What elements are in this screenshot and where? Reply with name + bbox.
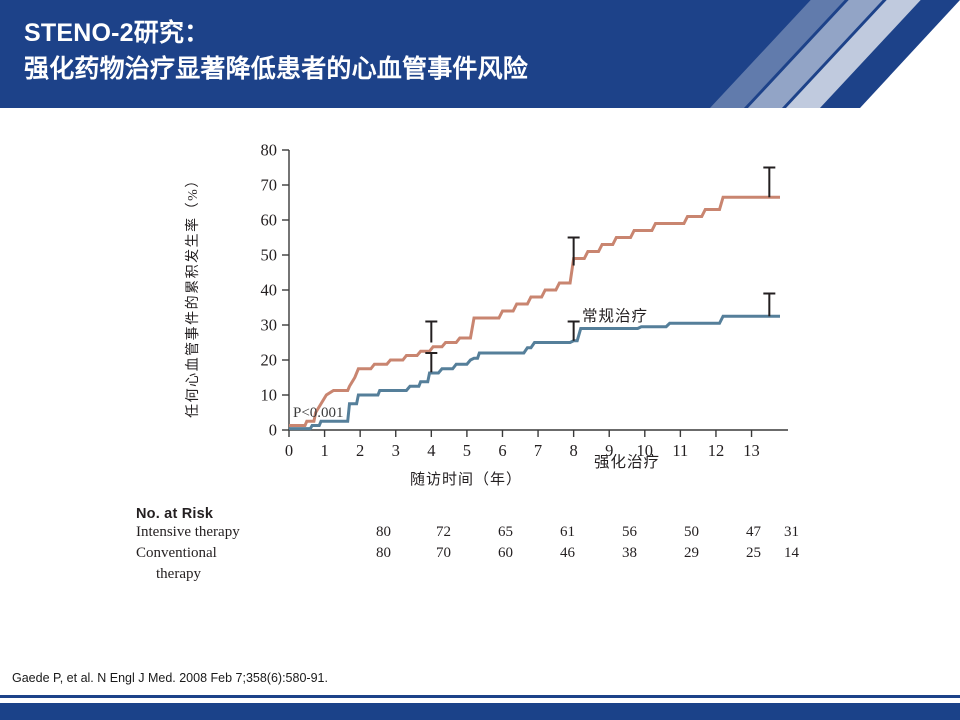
y-axis-label-text: 任何心血管事件的累积发生率（%） [182, 172, 202, 418]
no-at-risk-title: No. at Risk [136, 506, 213, 522]
risk-value: 47 [746, 524, 761, 541]
x-tick-label: 4 [427, 441, 435, 460]
y-tick-label: 0 [269, 421, 277, 440]
footer-bar [0, 703, 960, 720]
figure-panel: 01020304050607080012345678910111213 任何心血… [0, 108, 960, 648]
footer-rule [0, 695, 960, 698]
table-row: Intensive therapy 8072656156504731 [136, 524, 213, 545]
risk-value: 38 [622, 545, 637, 562]
y-tick-label: 30 [261, 316, 278, 335]
x-tick-label: 5 [463, 441, 471, 460]
x-tick-label: 11 [672, 441, 688, 460]
series-line [289, 316, 780, 428]
risk-value: 31 [784, 524, 799, 541]
y-tick-label: 60 [261, 211, 278, 230]
risk-row-label: Conventional [136, 545, 217, 562]
y-axis-label: 任何心血管事件的累积发生率（%） [182, 150, 202, 440]
risk-value: 70 [436, 545, 451, 562]
x-axis-label: 随访时间（年） [410, 468, 522, 489]
slide-title: STENO-2研究： 强化药物治疗显著降低患者的心血管事件风险 [24, 16, 528, 87]
x-tick-label: 13 [743, 441, 760, 460]
risk-row-label-second-line: therapy [156, 566, 201, 583]
y-tick-label: 20 [261, 351, 278, 370]
risk-value: 61 [560, 524, 575, 541]
x-tick-label: 8 [570, 441, 578, 460]
series-label-intensive: 强化治疗 [594, 450, 660, 472]
table-row: Conventional 8070604638292514 [136, 545, 213, 566]
p-value-annotation: P<0.001 [293, 405, 344, 422]
citation-text: Gaede P, et al. N Engl J Med. 2008 Feb 7… [12, 671, 328, 685]
y-tick-label: 10 [261, 386, 278, 405]
y-tick-label: 70 [261, 176, 278, 195]
km-survival-chart: 01020304050607080012345678910111213 [0, 108, 960, 508]
risk-value: 80 [376, 545, 391, 562]
x-tick-label: 7 [534, 441, 542, 460]
risk-value: 65 [498, 524, 513, 541]
risk-value: 80 [376, 524, 391, 541]
risk-value: 56 [622, 524, 637, 541]
x-tick-label: 1 [320, 441, 328, 460]
risk-value: 60 [498, 545, 513, 562]
risk-row-label: Intensive therapy [136, 524, 240, 541]
x-tick-label: 0 [285, 441, 293, 460]
no-at-risk-table: No. at Risk Intensive therapy 8072656156… [136, 506, 213, 587]
y-tick-label: 80 [261, 141, 278, 160]
risk-value: 46 [560, 545, 575, 562]
y-tick-label: 50 [261, 246, 278, 265]
slide-header: STENO-2研究： 强化药物治疗显著降低患者的心血管事件风险 [0, 0, 960, 108]
risk-value: 50 [684, 524, 699, 541]
risk-value: 72 [436, 524, 451, 541]
y-tick-label: 40 [261, 281, 278, 300]
risk-value: 25 [746, 545, 761, 562]
table-row-continuation: therapy [136, 566, 213, 587]
x-tick-label: 12 [708, 441, 725, 460]
series-label-conventional: 常规治疗 [582, 304, 648, 326]
x-tick-label: 6 [498, 441, 506, 460]
risk-value: 14 [784, 545, 799, 562]
series-line [289, 197, 780, 425]
x-tick-label: 3 [392, 441, 400, 460]
risk-value: 29 [684, 545, 699, 562]
x-tick-label: 2 [356, 441, 364, 460]
